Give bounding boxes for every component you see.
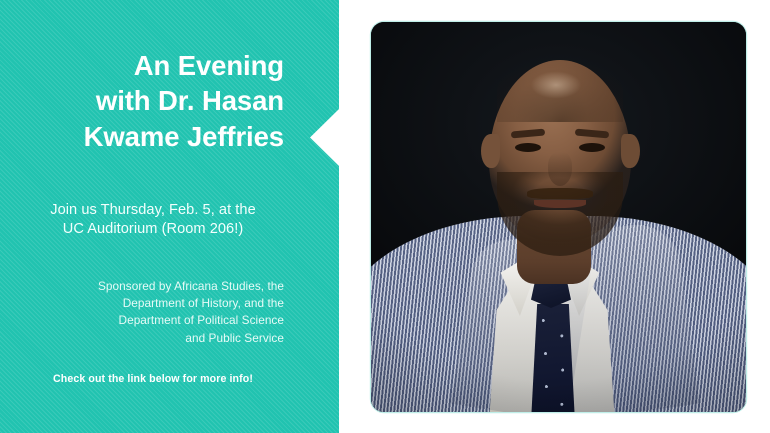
- sponsors-line-3: Department of Political Science: [12, 312, 284, 329]
- sponsors-line-4: and Public Service: [12, 330, 284, 347]
- flyer-text-column: An Evening with Dr. Hasan Kwame Jeffries…: [0, 0, 300, 433]
- portrait-eye-right: [579, 143, 605, 152]
- event-flyer-slide: An Evening with Dr. Hasan Kwame Jeffries…: [0, 0, 770, 433]
- headline-line-1: An Evening: [22, 48, 284, 83]
- event-details-line-1: Join us Thursday, Feb. 5, at the: [22, 201, 284, 220]
- sponsors-block: Sponsored by Africana Studies, the Depar…: [12, 278, 284, 347]
- headline-line-3: Kwame Jeffries: [22, 119, 284, 154]
- triangle-pointer-left-icon: [310, 109, 339, 166]
- call-to-action-text: Check out the link below for more info!: [22, 373, 284, 385]
- portrait-ear-left: [481, 134, 500, 168]
- portrait-mustache: [527, 188, 593, 199]
- event-details-line-2: UC Auditorium (Room 206!): [22, 220, 284, 239]
- portrait-eye-left: [515, 143, 541, 152]
- headline-line-2: with Dr. Hasan: [22, 83, 284, 118]
- sponsors-line-2: Department of History, and the: [12, 295, 284, 312]
- portrait-ear-right: [621, 134, 640, 168]
- portrait-mouth: [534, 200, 586, 208]
- page-title: An Evening with Dr. Hasan Kwame Jeffries: [22, 48, 284, 154]
- sponsors-line-1: Sponsored by Africana Studies, the: [12, 278, 284, 295]
- event-details: Join us Thursday, Feb. 5, at the UC Audi…: [22, 201, 284, 240]
- portrait-tie: [531, 304, 575, 412]
- speaker-portrait-photo: [371, 22, 746, 412]
- portrait-highlight: [521, 66, 591, 104]
